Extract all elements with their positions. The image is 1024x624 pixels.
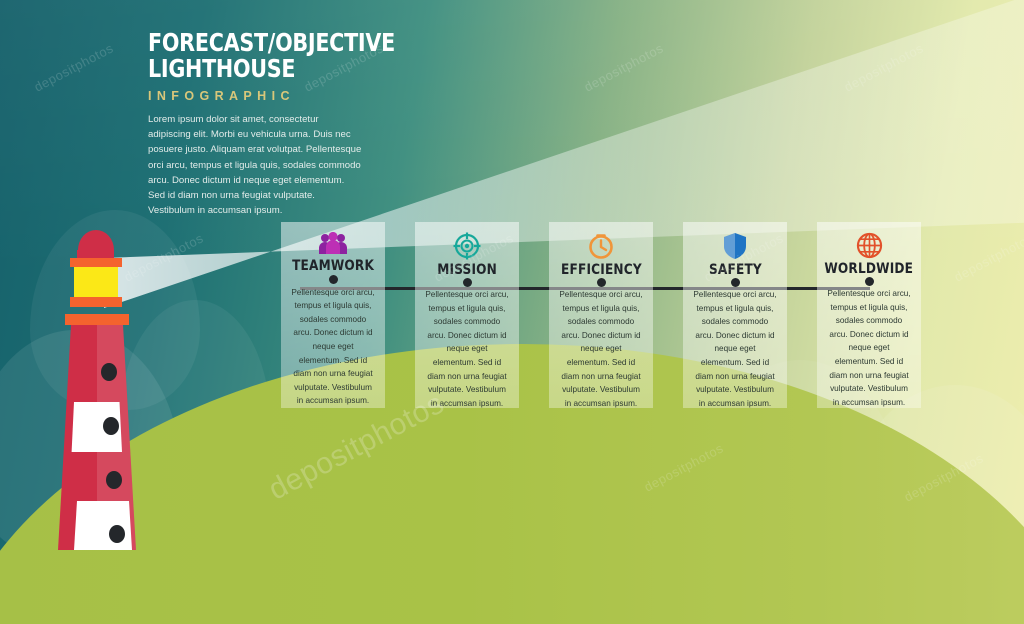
- feature-card-worldwide[interactable]: WORLDWIDE Pellentesque orci arcu, tempus…: [817, 222, 921, 408]
- globe-icon: [856, 232, 883, 259]
- feature-card-efficiency[interactable]: EFFICIENCY Pellentesque orci arcu, tempu…: [549, 222, 653, 408]
- clock-icon: [587, 232, 615, 260]
- timeline-dot-wrap: [731, 278, 740, 287]
- feature-card-mission[interactable]: MISSION Pellentesque orci arcu, tempus e…: [415, 222, 519, 408]
- timeline-dot-wrap: [329, 274, 338, 285]
- feature-card-text: Pellentesque orci arcu, tempus et ligula…: [692, 288, 778, 410]
- people-group-icon: [317, 232, 349, 256]
- feature-card-title: MISSION: [437, 262, 497, 278]
- feature-card-safety[interactable]: SAFETY Pellentesque orci arcu, tempus et…: [683, 222, 787, 408]
- timeline-dot: [597, 278, 606, 287]
- feature-card-title: TEAMWORK: [292, 258, 374, 274]
- feature-card-text: Pellentesque orci arcu, tempus et ligula…: [290, 286, 376, 408]
- feature-card-teamwork[interactable]: TEAMWORK Pellentesque orci arcu, tempus …: [281, 222, 385, 408]
- feature-card-title: EFFICIENCY: [561, 262, 642, 278]
- feature-card-text: Pellentesque orci arcu, tempus et ligula…: [424, 288, 510, 410]
- feature-card-title: WORLDWIDE: [825, 261, 914, 277]
- timeline-dot-wrap: [597, 278, 606, 287]
- feature-card-list: TEAMWORK Pellentesque orci arcu, tempus …: [0, 0, 1024, 624]
- timeline-dot-wrap: [463, 278, 472, 287]
- timeline-dot-wrap: [865, 277, 874, 286]
- feature-card-text: Pellentesque orci arcu, tempus et ligula…: [826, 287, 912, 409]
- shield-icon: [723, 232, 747, 260]
- infographic-canvas: FORECAST/OBJECTIVE LIGHTHOUSE INFOGRAPHI…: [0, 0, 1024, 624]
- feature-card-text: Pellentesque orci arcu, tempus et ligula…: [558, 288, 644, 410]
- target-crosshair-icon: [453, 232, 481, 260]
- timeline-dot: [865, 277, 874, 286]
- timeline-dot: [731, 278, 740, 287]
- timeline-dot: [329, 275, 338, 284]
- timeline-dot: [463, 278, 472, 287]
- feature-card-title: SAFETY: [709, 262, 762, 278]
